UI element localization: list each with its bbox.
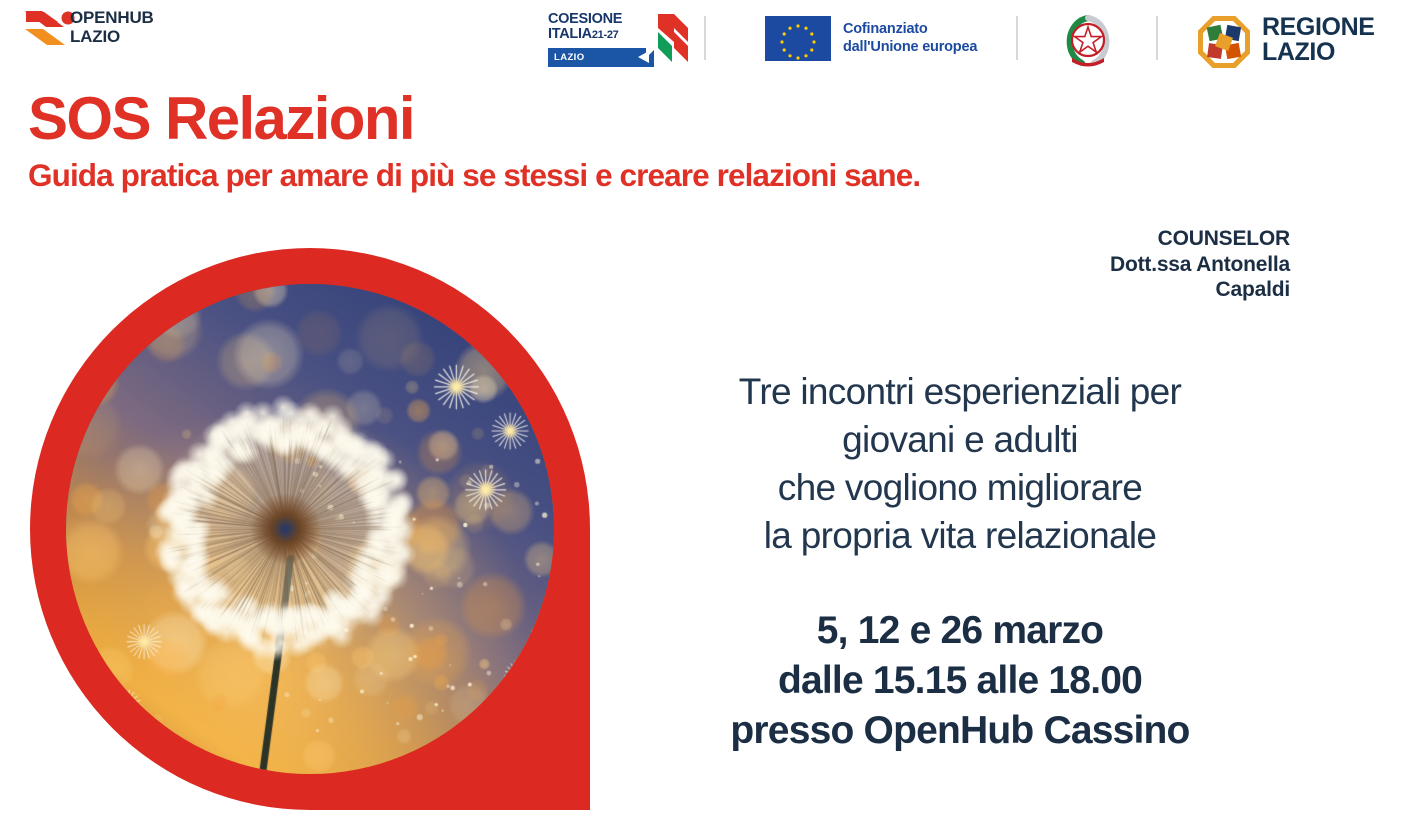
header-divider-2 [1016,16,1018,60]
lead-line1: Tre incontri esperienziali per [620,368,1300,416]
poster-image-block [30,248,590,810]
coesione-region-bar: LAZIO [548,48,654,67]
eu-line2: dall'Unione europea [843,39,977,57]
openhub-wordmark: OPENHUB LAZIO [70,8,154,46]
poster-lead-text: Tre incontri esperienziali per giovani e… [620,368,1300,560]
regione-lazio-wordmark: REGIONE LAZIO [1262,15,1375,65]
coesione-region-label: LAZIO [554,52,585,63]
openhub-name-line2: LAZIO [70,27,154,46]
eu-line1: Cofinanziato [843,21,977,39]
coesione-line1: COESIONE [548,12,622,27]
coesione-italia-flag-icon [644,12,692,68]
european-union-cofunding-logo: Cofinanziato dall'Unione europea [765,16,990,62]
counselor-role: COUNSELOR [1110,226,1290,252]
coesione-text: COESIONE ITALIA21-27 [548,12,622,43]
coesione-line2: ITALIA [548,26,592,42]
regione-line2: LAZIO [1262,40,1375,65]
dandelion-photo [66,284,554,774]
lead-line4: la propria vita relazionale [620,512,1300,560]
poster-subtitle: Guida pratica per amare di più se stessi… [28,156,920,194]
eu-cofunding-text: Cofinanziato dall'Unione europea [843,21,977,56]
regione-lazio-logo: REGIONE LAZIO [1196,12,1396,68]
details-venue: presso OpenHub Cassino [620,706,1300,756]
header-logo-bar: OPENHUB LAZIO COESIONE ITALIA21-27 LAZIO [0,0,1414,80]
coesione-italia-logo: COESIONE ITALIA21-27 LAZIO [548,12,683,68]
poster-details-text: 5, 12 e 26 marzo dalle 15.15 alle 18.00 … [620,606,1300,756]
openhub-name-line1: OPENHUB [70,8,154,27]
counselor-name-line2: Capaldi [1110,277,1290,303]
regione-lazio-mark-icon [1196,14,1252,70]
openhub-lazio-logo: OPENHUB LAZIO [24,6,204,54]
european-union-flag-icon [765,16,831,61]
coesione-years: 21-27 [592,29,619,41]
lead-line3: che vogliono migliorare [620,464,1300,512]
poster-title: SOS Relazioni [28,88,414,150]
lead-line2: giovani e adulti [620,416,1300,464]
counselor-name-line1: Dott.ssa Antonella [1110,252,1290,278]
counselor-credit: COUNSELOR Dott.ssa Antonella Capaldi [1110,226,1290,303]
details-time: dalle 15.15 alle 18.00 [620,656,1300,706]
coesione-line2-wrap: ITALIA21-27 [548,27,622,43]
details-date: 5, 12 e 26 marzo [620,606,1300,656]
regione-line1: REGIONE [1262,15,1375,40]
dandelion-photo-canvas [66,284,554,774]
header-divider-1 [704,16,706,60]
header-divider-3 [1156,16,1158,60]
repubblica-italiana-emblem-icon [1058,10,1118,70]
